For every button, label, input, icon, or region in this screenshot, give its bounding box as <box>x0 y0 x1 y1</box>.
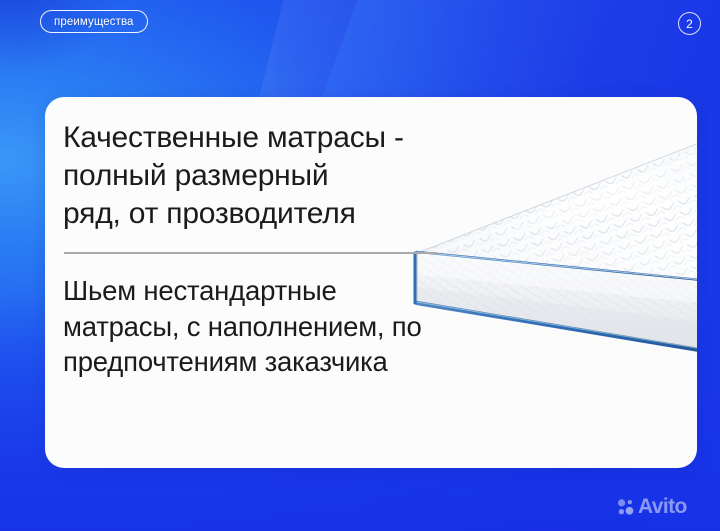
section-badge-label: преимущества <box>54 16 134 28</box>
page-number-value: 2 <box>686 18 693 30</box>
card-divider <box>64 252 437 254</box>
card-text-column: Качественные матрасы - полный размерный … <box>63 119 563 379</box>
card-headline: Качественные матрасы - полный размерный … <box>63 119 563 232</box>
section-badge: преимущества <box>40 10 148 33</box>
card-subheadline: Шьем нестандартные матрасы, с наполнение… <box>63 273 563 379</box>
content-card: Качественные матрасы - полный размерный … <box>45 97 697 468</box>
page-number-badge: 2 <box>678 12 701 35</box>
